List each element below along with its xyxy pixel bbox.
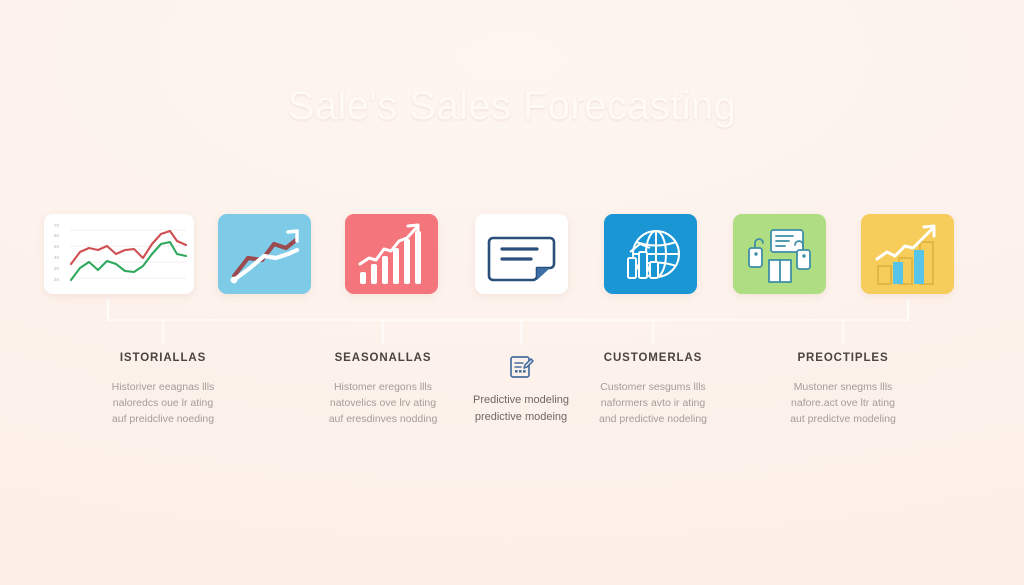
historical-sales-line-chart-card[interactable]: 70 60 50 40 30 20 xyxy=(44,214,194,294)
caption-body: Mustoner snegms llls nafore.act ove ltr … xyxy=(748,380,938,428)
document-note-icon xyxy=(475,214,568,294)
ascending-lines-arrow-icon xyxy=(218,214,311,294)
svg-text:50: 50 xyxy=(54,244,59,249)
caption-body: Customer sesgums llls naformers avto ir … xyxy=(558,380,748,428)
dual-line-chart-icon: 70 60 50 40 30 20 xyxy=(44,214,194,294)
caption-body: Historiver eeagnas llls naloredcs oue lr… xyxy=(68,380,258,428)
tags-card-icon xyxy=(733,214,826,294)
bars-trendline-arrow-icon xyxy=(861,214,954,294)
customer-tags-card[interactable] xyxy=(733,214,826,294)
bar-chart-uptrend-icon xyxy=(345,214,438,294)
caption-heading: ISTORIALLAS xyxy=(68,352,258,364)
caption-historical: ISTORIALLAS Historiver eeagnas llls nalo… xyxy=(68,352,258,428)
svg-text:20: 20 xyxy=(54,277,59,282)
growth-bars-card[interactable] xyxy=(345,214,438,294)
svg-text:30: 30 xyxy=(54,266,59,271)
svg-text:60: 60 xyxy=(54,233,59,238)
page-title-wrap: Sale's Sales Forecasting xyxy=(0,84,1024,128)
svg-text:40: 40 xyxy=(54,255,59,260)
caption-heading: PREOCTIPLES xyxy=(748,352,938,364)
icon-card-row: 70 60 50 40 30 20 xyxy=(0,214,1024,302)
caption-predictive-principles: PREOCTIPLES Mustoner snegms llls nafore.… xyxy=(748,352,938,428)
caption-row: ISTORIALLAS Historiver eeagnas llls nalo… xyxy=(0,352,1024,462)
caption-heading: CUSTOMERLAS xyxy=(558,352,748,364)
global-analytics-card[interactable] xyxy=(604,214,697,294)
globe-bars-icon xyxy=(604,214,697,294)
svg-text:70: 70 xyxy=(54,223,59,228)
page-title: Sale's Sales Forecasting xyxy=(288,84,737,128)
caption-customer: CUSTOMERLAS Customer sesgums llls naform… xyxy=(558,352,748,428)
diagram-canvas: Sale's Sales Forecasting xyxy=(0,0,1024,585)
trend-lines-card[interactable] xyxy=(218,214,311,294)
forecast-bars-card[interactable] xyxy=(861,214,954,294)
report-document-card[interactable] xyxy=(475,214,568,294)
